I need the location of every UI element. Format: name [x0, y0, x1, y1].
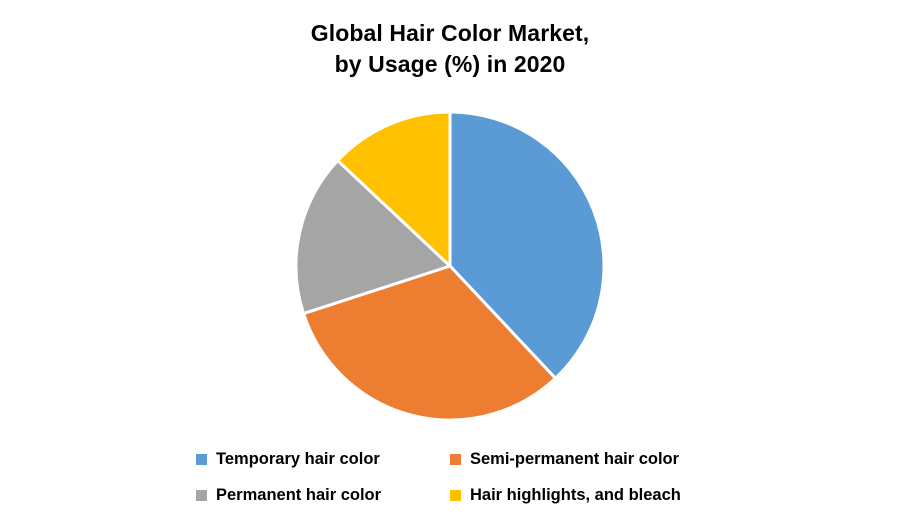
legend-item-label: Temporary hair color	[216, 449, 380, 469]
chart-title-line-1: Global Hair Color Market,	[0, 18, 900, 49]
legend-square-icon	[450, 490, 461, 501]
legend-item-label: Semi-permanent hair color	[470, 449, 679, 469]
legend-item-hair-highlights-and-bleach[interactable]: Hair highlights, and bleach	[440, 480, 740, 510]
pie-slice-group	[296, 112, 604, 420]
legend-row-2: Permanent hair color Hair highlights, an…	[150, 480, 750, 516]
pie-chart-figure: Global Hair Color Market, by Usage (%) i…	[0, 0, 900, 525]
legend-item-label: Permanent hair color	[216, 485, 381, 505]
pie-plot-area	[294, 110, 606, 422]
chart-legend: Temporary hair color Semi-permanent hair…	[150, 444, 750, 516]
legend-item-permanent-hair-color[interactable]: Permanent hair color	[150, 480, 440, 510]
pie-svg	[294, 110, 606, 422]
chart-title: Global Hair Color Market, by Usage (%) i…	[0, 18, 900, 80]
legend-square-icon	[196, 490, 207, 501]
legend-item-semi-permanent-hair-color[interactable]: Semi-permanent hair color	[440, 444, 740, 474]
legend-square-icon	[450, 454, 461, 465]
legend-item-label: Hair highlights, and bleach	[470, 485, 681, 505]
legend-row-1: Temporary hair color Semi-permanent hair…	[150, 444, 750, 480]
chart-title-line-2: by Usage (%) in 2020	[0, 49, 900, 80]
legend-item-temporary-hair-color[interactable]: Temporary hair color	[150, 444, 440, 474]
legend-square-icon	[196, 454, 207, 465]
